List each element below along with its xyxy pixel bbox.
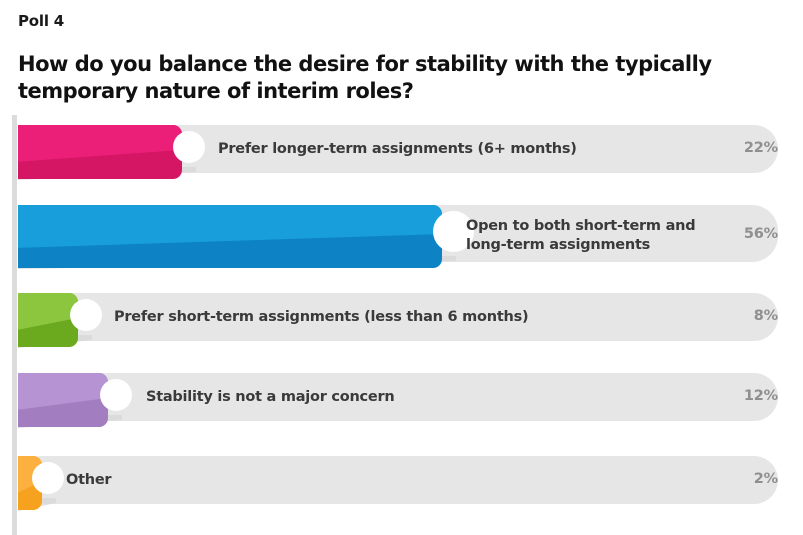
poll-bar-knob bbox=[100, 379, 132, 411]
poll-option-percentage: 8% bbox=[754, 308, 778, 324]
poll-bar-knob bbox=[70, 299, 102, 331]
poll-number: Poll 4 bbox=[18, 12, 778, 30]
vertical-axis-line bbox=[12, 115, 17, 535]
poll-results-chart: Prefer longer-term assignments (6+ month… bbox=[0, 113, 803, 535]
poll-option-percentage: 2% bbox=[754, 471, 778, 487]
poll-option-percentage: 22% bbox=[744, 140, 778, 156]
poll-header: Poll 4 How do you balance the desire for… bbox=[18, 0, 778, 106]
poll-bar-fill bbox=[18, 373, 108, 427]
poll-option-label: Other bbox=[66, 471, 111, 490]
poll-bar-knob bbox=[173, 131, 205, 163]
poll-option-label: Stability is not a major concern bbox=[146, 388, 394, 407]
poll-option-label: Prefer short-term assignments (less than… bbox=[114, 308, 528, 327]
poll-question: How do you balance the desire for stabil… bbox=[18, 51, 763, 106]
poll-bar-highlight bbox=[18, 373, 108, 427]
poll-bar-track bbox=[18, 373, 778, 421]
poll-option-label: Open to both short-term and long-term as… bbox=[466, 217, 695, 255]
poll-bar-highlight bbox=[18, 293, 78, 347]
poll-option-label: Prefer longer-term assignments (6+ month… bbox=[218, 140, 577, 159]
poll-bar-fill bbox=[18, 125, 182, 179]
poll-bar-track bbox=[18, 456, 778, 504]
poll-bar-highlight bbox=[18, 125, 182, 179]
poll-bar-highlight bbox=[18, 205, 442, 268]
poll-option-percentage: 56% bbox=[744, 226, 778, 242]
poll-bar-knob bbox=[32, 462, 64, 494]
poll-option-percentage: 12% bbox=[744, 388, 778, 404]
poll-bar-fill bbox=[18, 205, 442, 268]
poll-bar-fill bbox=[18, 293, 78, 347]
